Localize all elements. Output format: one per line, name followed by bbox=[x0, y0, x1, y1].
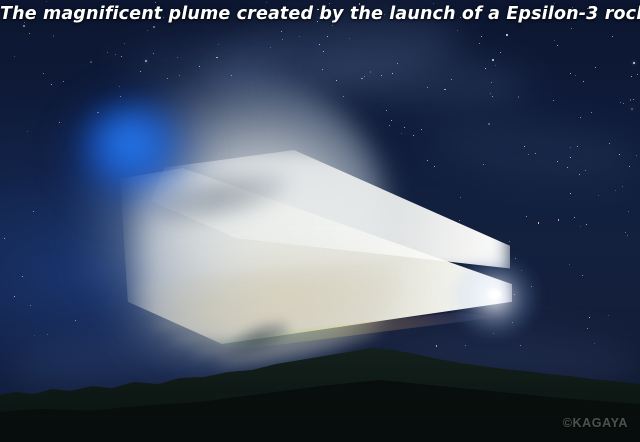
page-title: The magnificent plume created by the lau… bbox=[0, 2, 640, 26]
photographer-watermark: ©KAGAYA bbox=[563, 416, 628, 430]
photo-container: The magnificent plume created by the lau… bbox=[0, 0, 640, 442]
forested-hill-silhouette bbox=[0, 332, 640, 442]
